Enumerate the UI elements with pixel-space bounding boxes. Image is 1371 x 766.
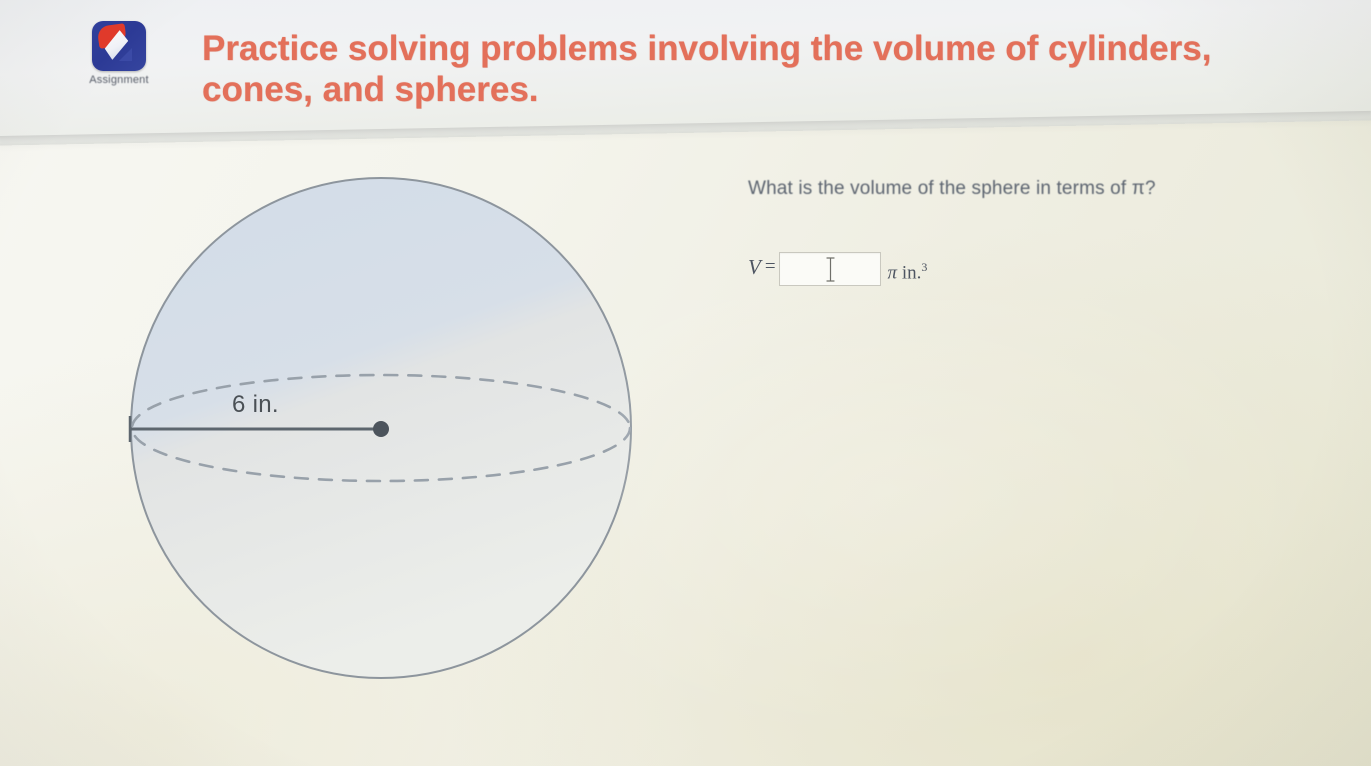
page-title: Practice solving problems involving the … bbox=[202, 29, 1262, 110]
answer-units: π in.3 bbox=[888, 252, 928, 288]
volume-variable-label: V bbox=[748, 252, 761, 282]
units-inches: in. bbox=[897, 262, 921, 283]
equals-sign: = bbox=[765, 252, 776, 282]
assignment-icon-pen-tip bbox=[119, 48, 132, 61]
answer-input[interactable] bbox=[779, 252, 881, 286]
sphere-center-dot bbox=[373, 421, 389, 437]
assignment-badge[interactable]: Assignment bbox=[74, 21, 164, 86]
text-cursor-icon bbox=[826, 257, 835, 282]
question-prompt: What is the volume of the sphere in term… bbox=[748, 178, 1156, 200]
sphere-svg bbox=[120, 170, 650, 690]
assignment-label: Assignment bbox=[74, 74, 164, 86]
screen-glare bbox=[620, 300, 1371, 766]
screenshot-root: Assignment Practice solving problems inv… bbox=[0, 0, 1371, 766]
sphere-figure bbox=[120, 170, 650, 690]
pi-symbol: π bbox=[888, 262, 898, 283]
assignment-header-content: Assignment Practice solving problems inv… bbox=[30, 4, 1371, 154]
answer-row: V = π in.3 bbox=[748, 252, 927, 288]
radius-dimension-label: 6 in. bbox=[232, 391, 279, 419]
units-exponent: 3 bbox=[921, 260, 927, 274]
assignment-pen-icon bbox=[92, 21, 146, 71]
